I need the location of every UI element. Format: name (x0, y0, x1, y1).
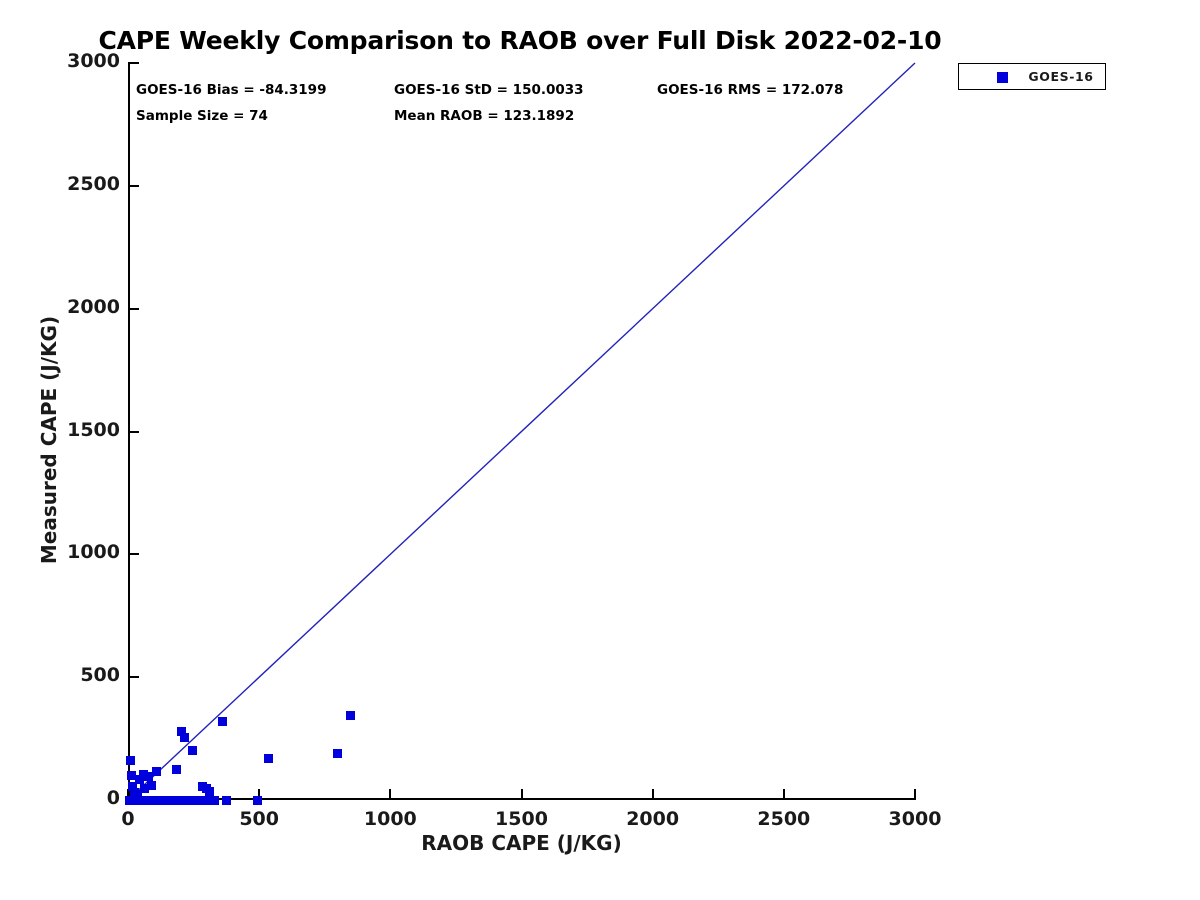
chart-figure: CAPE Weekly Comparison to RAOB over Full… (0, 0, 1200, 900)
legend-label-goes16: GOES-16 (1019, 69, 1103, 84)
scatter-point (188, 746, 197, 755)
x-axis-label: RAOB CAPE (J/KG) (128, 831, 915, 855)
x-tick-mark (521, 789, 523, 800)
scatter-point (264, 754, 273, 763)
y-tick-mark (128, 62, 139, 64)
scatter-point (210, 796, 219, 805)
plot-area (128, 63, 915, 800)
y-tick-mark (128, 553, 139, 555)
x-tick-mark (914, 789, 916, 800)
y-axis-label: Measured CAPE (J/KG) (37, 70, 61, 810)
scatter-point (333, 749, 342, 758)
y-tick-label: 2000 (0, 296, 129, 318)
y-tick-label: 1000 (0, 541, 129, 563)
x-tick-label: 2000 (593, 808, 713, 830)
y-tick-mark (128, 185, 139, 187)
scatter-point (147, 781, 156, 790)
y-tick-label: 3000 (0, 50, 129, 72)
y-tick-mark (128, 308, 139, 310)
scatter-point (346, 711, 355, 720)
x-tick-label: 1000 (330, 808, 450, 830)
y-tick-label: 500 (0, 664, 129, 686)
x-tick-label: 2500 (724, 808, 844, 830)
y-tick-mark (128, 431, 139, 433)
scatter-point (180, 733, 189, 742)
y-tick-label: 0 (0, 787, 129, 809)
y-tick-label: 2500 (0, 173, 129, 195)
scatter-point (222, 796, 231, 805)
x-tick-mark (389, 789, 391, 800)
chart-legend[interactable]: GOES-16 (958, 63, 1106, 90)
chart-title: CAPE Weekly Comparison to RAOB over Full… (0, 26, 1040, 55)
x-tick-label: 1500 (462, 808, 582, 830)
x-tick-label: 3000 (855, 808, 975, 830)
x-tick-label: 500 (199, 808, 319, 830)
x-tick-mark (783, 789, 785, 800)
legend-marker-goes16 (997, 72, 1008, 83)
x-tick-mark (652, 789, 654, 800)
scatter-point (218, 717, 227, 726)
y-tick-label: 1500 (0, 419, 129, 441)
scatter-point (253, 796, 262, 805)
x-tick-label: 0 (68, 808, 188, 830)
scatter-point (172, 765, 181, 774)
scatter-point (152, 767, 161, 776)
scatter-point (126, 756, 135, 765)
scatter-point (201, 796, 210, 805)
y-tick-mark (128, 676, 139, 678)
